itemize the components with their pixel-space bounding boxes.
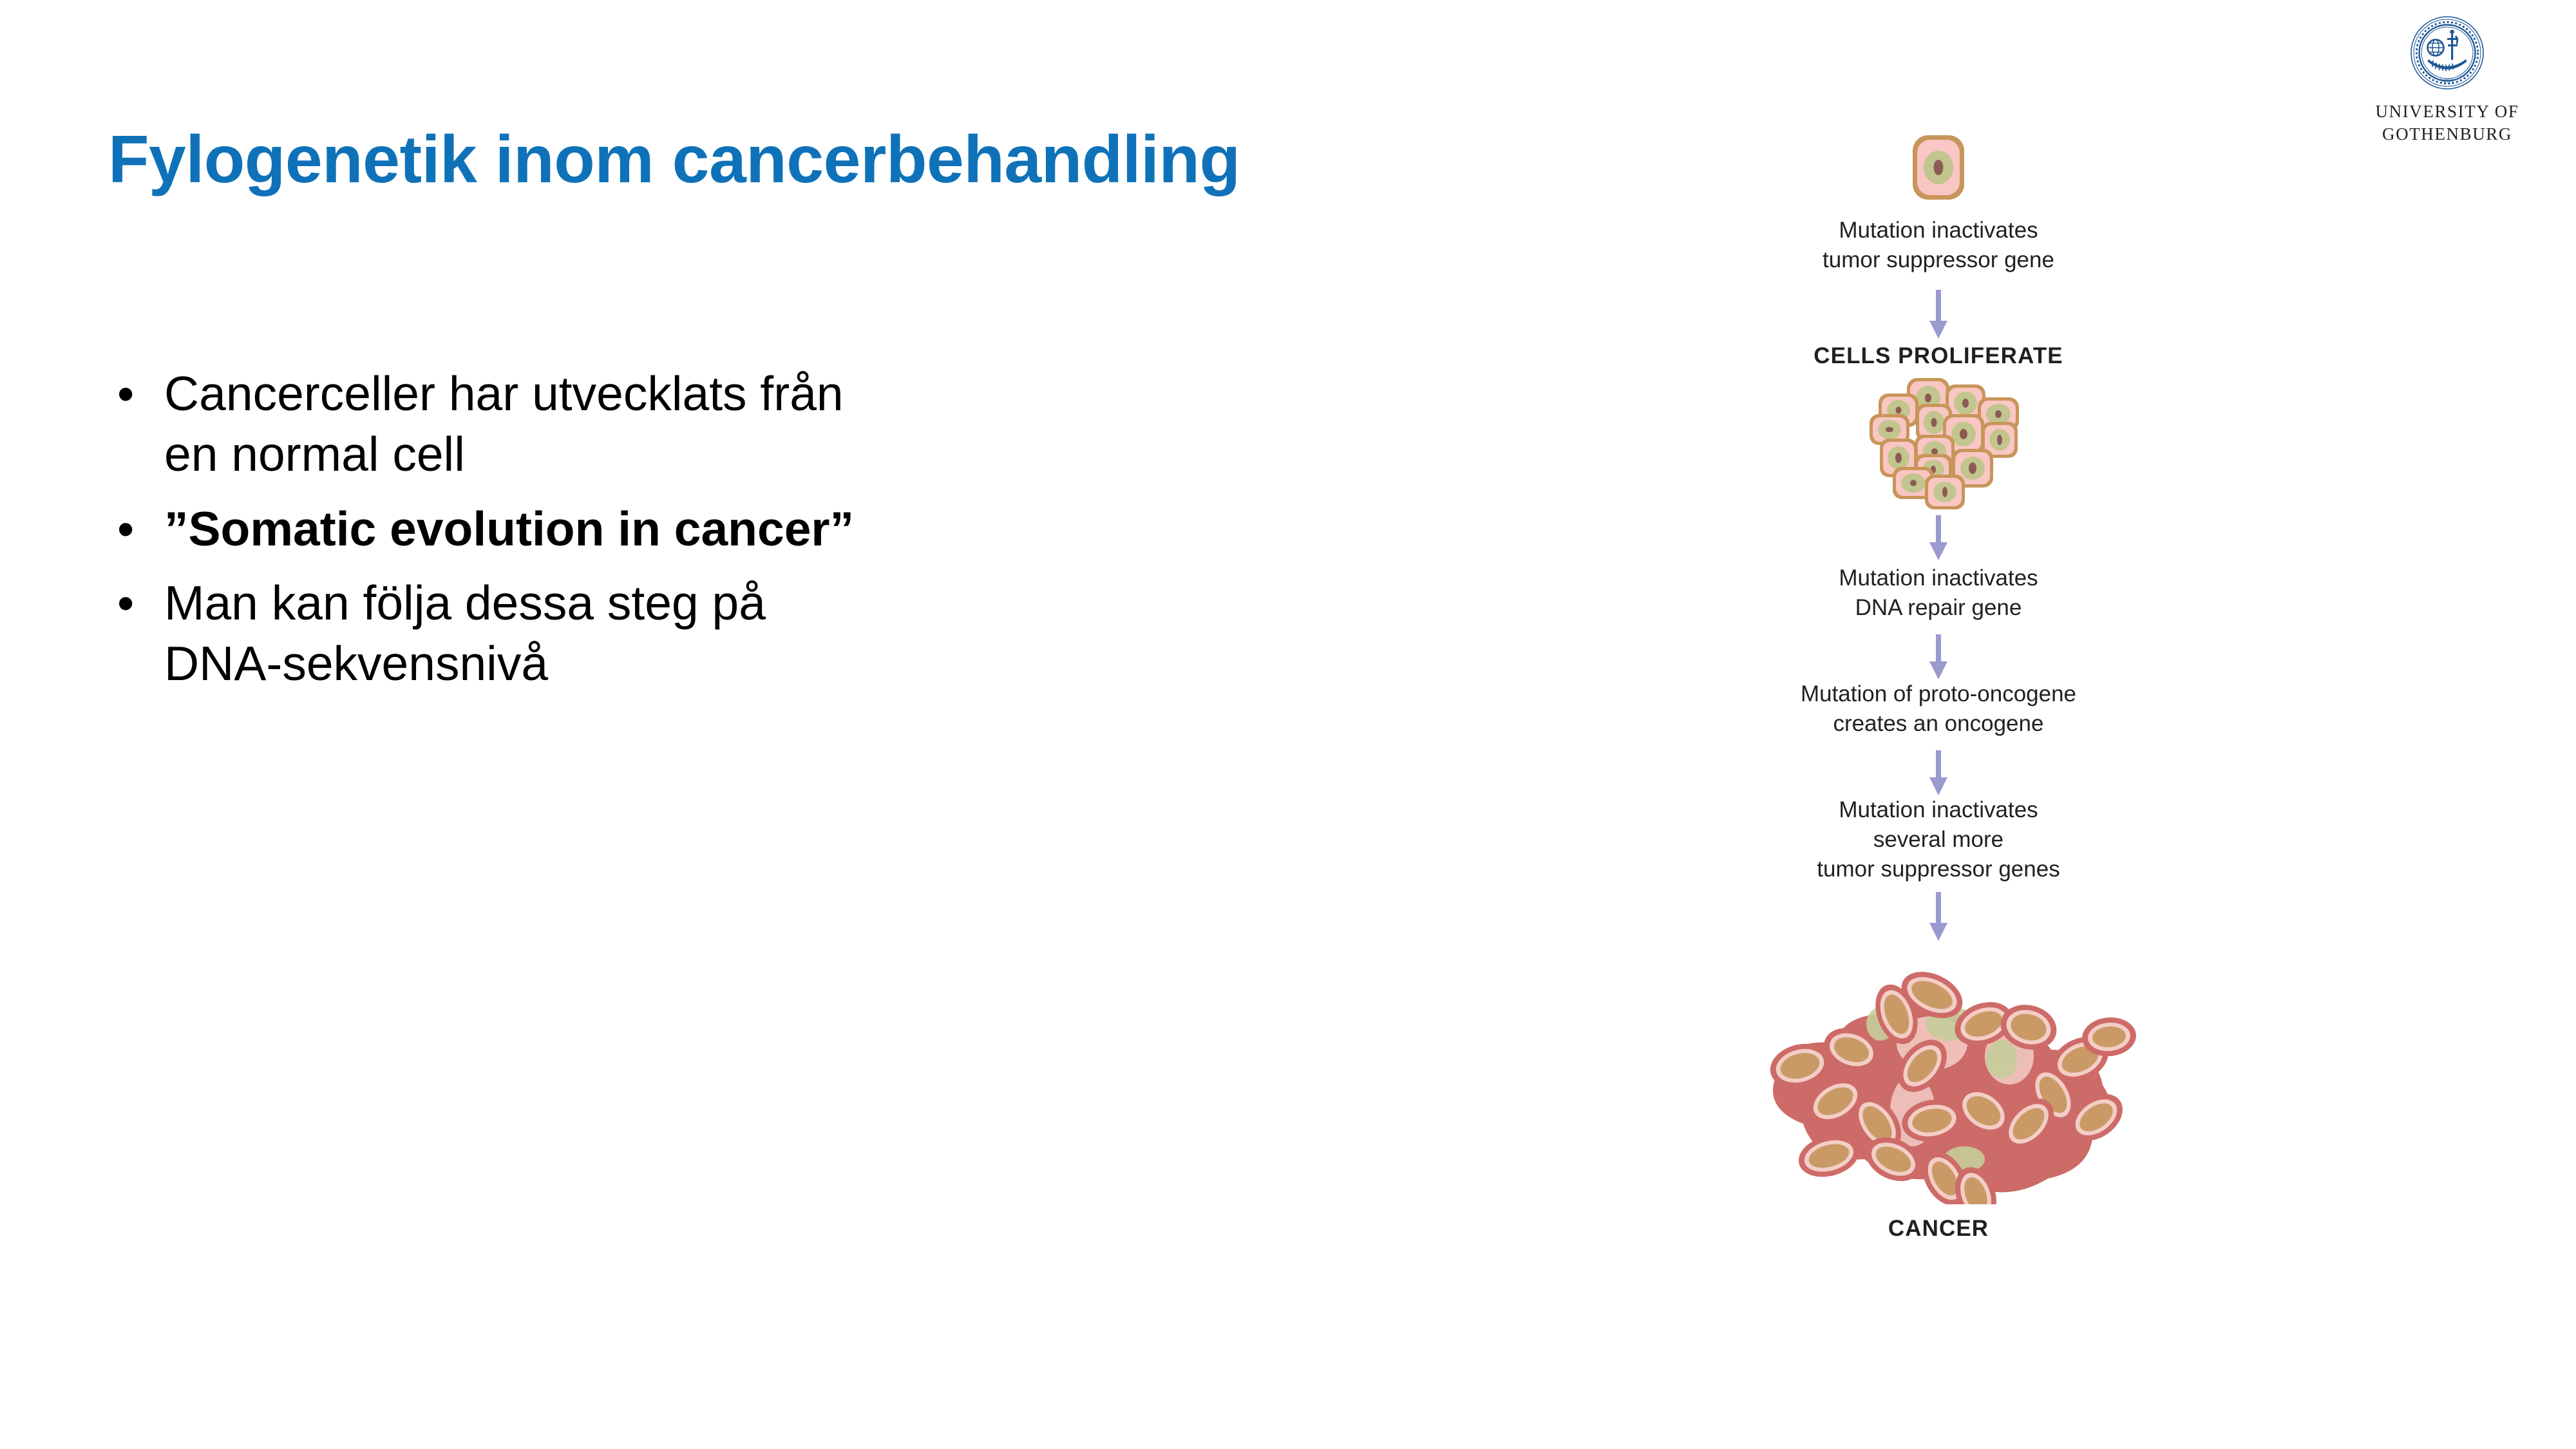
list-item: • ”Somatic evolution in cancer” xyxy=(103,499,1198,560)
cell-cluster-icon xyxy=(1845,377,2032,515)
figure-cells-proliferate-label: CELLS PROLIFERATE xyxy=(1649,341,2228,371)
cancer-progression-diagram: Mutation inactivates tumor suppressor ge… xyxy=(1649,129,2228,1391)
figure-cell-cluster xyxy=(1649,377,2228,515)
down-arrow-icon xyxy=(1926,750,1951,797)
figure-caption-text: Mutation inactivates DNA repair gene xyxy=(1649,563,2228,623)
figure-caption-text: Mutation of proto-oncogene creates an on… xyxy=(1649,679,2228,739)
list-item: • Man kan följa dessa steg på DNA-sekven… xyxy=(103,573,1198,694)
slide-canvas: Fylogenetik inom cancerbehandling • Canc… xyxy=(0,0,2576,1449)
figure-arrow-2 xyxy=(1649,515,2228,562)
bullet-marker: • xyxy=(117,364,134,424)
down-arrow-icon xyxy=(1926,515,1951,562)
bullet-marker: • xyxy=(117,499,134,560)
list-item: • Cancerceller har utvecklats från en no… xyxy=(103,364,1198,485)
figure-caption-1: Mutation inactivates tumor suppressor ge… xyxy=(1649,216,2228,275)
cancer-mass-icon xyxy=(1739,947,2138,1204)
list-item-text: Cancerceller har utvecklats från en norm… xyxy=(164,364,1198,485)
list-item-text: ”Somatic evolution in cancer” xyxy=(164,499,1198,560)
figure-caption-2: Mutation inactivates DNA repair gene xyxy=(1649,563,2228,623)
figure-caption-text: Mutation inactivates several more tumor … xyxy=(1649,795,2228,885)
figure-arrow-3 xyxy=(1649,634,2228,681)
figure-cancer-label: CANCER xyxy=(1649,1214,2228,1244)
normal-cell-icon xyxy=(1903,129,1974,209)
figure-arrow-5 xyxy=(1649,892,2228,942)
figure-single-cell xyxy=(1649,129,2228,209)
bullet-list: • Cancerceller har utvecklats från en no… xyxy=(103,364,1198,708)
university-seal-icon: 1891 xyxy=(2409,14,2486,91)
figure-caption-3: Mutation of proto-oncogene creates an on… xyxy=(1649,679,2228,739)
down-arrow-icon xyxy=(1926,892,1951,942)
down-arrow-icon xyxy=(1926,634,1951,681)
seal-year: 1891 xyxy=(2440,79,2454,85)
figure-arrow-1 xyxy=(1649,290,2228,340)
bullet-marker: • xyxy=(117,573,134,634)
university-name: UNIVERSITY OF GOTHENBURG xyxy=(2357,100,2537,145)
figure-caption-4: Mutation inactivates several more tumor … xyxy=(1649,795,2228,885)
university-logo: 1891 UNIVERSITY OF GOTHENBURG xyxy=(2357,14,2537,145)
figure-cancer-mass xyxy=(1649,947,2228,1204)
page-title: Fylogenetik inom cancerbehandling xyxy=(108,122,1654,197)
down-arrow-icon xyxy=(1926,290,1951,340)
list-item-text: Man kan följa dessa steg på DNA-sekvensn… xyxy=(164,573,1198,694)
figure-caption-text: Mutation inactivates tumor suppressor ge… xyxy=(1649,216,2228,275)
figure-caption-text: CANCER xyxy=(1649,1214,2228,1244)
figure-caption-text: CELLS PROLIFERATE xyxy=(1649,341,2228,371)
figure-arrow-4 xyxy=(1649,750,2228,797)
